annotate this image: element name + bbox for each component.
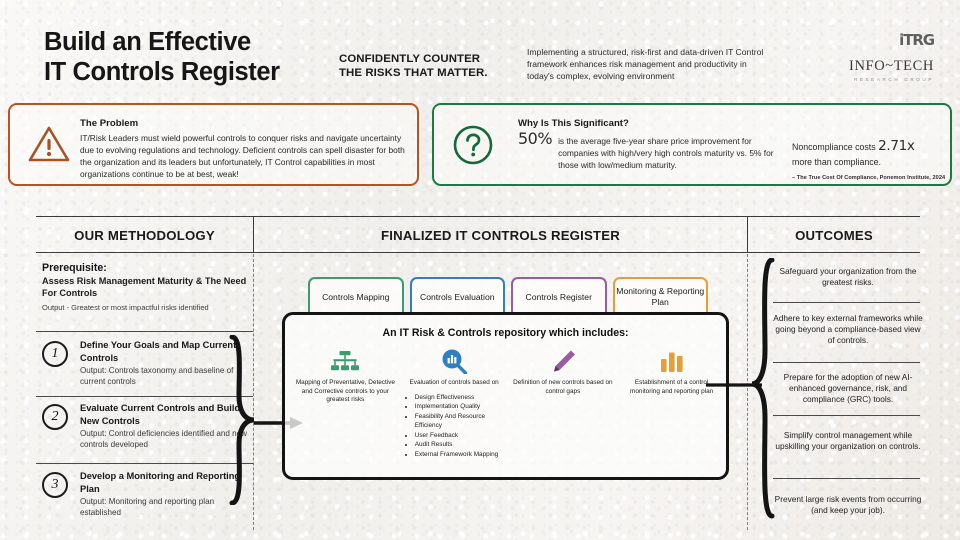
section-heading-outcomes: OUTCOMES bbox=[748, 228, 920, 243]
outcome-separator bbox=[773, 478, 920, 479]
problem-callout: The Problem IT/Risk Leaders must wield p… bbox=[8, 103, 419, 186]
significance-stat: 50% is the average five-year share price… bbox=[518, 131, 793, 171]
step-number-badge: 3 bbox=[42, 472, 68, 498]
step-number-badge: 2 bbox=[42, 404, 68, 430]
methodology-separator bbox=[36, 331, 253, 332]
list-item: External Framework Mapping bbox=[415, 450, 506, 459]
page-title-line2: IT Controls Register bbox=[44, 57, 280, 87]
list-item: Implementation Quality bbox=[415, 402, 506, 411]
header-description: Implementing a structured, risk-first an… bbox=[527, 46, 767, 83]
infographic-page: Build an Effective IT Controls Register … bbox=[0, 0, 960, 540]
section-heading-methodology: OUR METHODOLOGY bbox=[36, 228, 253, 243]
register-tabs: Controls Mapping Controls Evaluation Con… bbox=[308, 277, 708, 315]
register-column-caption: Mapping of Preventative, Detective and C… bbox=[294, 379, 397, 405]
logo-itrg-mark: iTRG bbox=[849, 31, 934, 49]
step-number-badge: 1 bbox=[42, 341, 68, 367]
tab-controls-mapping[interactable]: Controls Mapping bbox=[308, 277, 404, 315]
cost-prefix: Noncompliance costs bbox=[792, 142, 876, 152]
pencil-icon bbox=[512, 348, 615, 374]
outcome-separator bbox=[773, 362, 920, 363]
register-column-mapping: Mapping of Preventative, Detective and C… bbox=[291, 348, 400, 459]
methodology-step-3[interactable]: 3 Develop a Monitoring and Reporting Pla… bbox=[42, 470, 257, 519]
significance-callout: Why Is This Significant? 50% is the aver… bbox=[432, 103, 952, 186]
outcome-item-4: Simplify control management while upskil… bbox=[773, 430, 923, 452]
page-title: Build an Effective IT Controls Register bbox=[44, 27, 280, 87]
problem-body: IT/Risk Leaders must wield powerful cont… bbox=[80, 132, 410, 180]
methodology-step-2[interactable]: 2 Evaluate Current Controls and Build Ne… bbox=[42, 402, 257, 451]
list-item: Feasibility And Resource Efficiency bbox=[415, 412, 506, 430]
prerequisite-block: Prerequisite: Assess Risk Management Mat… bbox=[42, 262, 256, 312]
left-brace-icon bbox=[226, 335, 256, 505]
methodology-separator bbox=[36, 396, 253, 397]
header-kicker: CONFIDENTLY COUNTER THE RISKS THAT MATTE… bbox=[339, 52, 488, 81]
logo-tagline: RESEARCH GROUP bbox=[849, 77, 934, 82]
methodology-step-1[interactable]: 1 Define Your Goals and Map Current Cont… bbox=[42, 339, 257, 388]
hierarchy-icon bbox=[294, 348, 397, 374]
prerequisite-label: Prerequisite: bbox=[42, 262, 256, 274]
logo-info-tech-name: INFO~TECH bbox=[849, 58, 934, 75]
prerequisite-title: Assess Risk Management Maturity & The Ne… bbox=[42, 275, 256, 299]
outcome-item-2: Adhere to key external frameworks while … bbox=[773, 313, 923, 347]
warning-triangle-icon bbox=[26, 122, 72, 168]
register-content-panel: An IT Risk & Controls repository which i… bbox=[282, 312, 729, 480]
band-rule-bottom bbox=[36, 252, 920, 253]
methodology-separator bbox=[36, 463, 253, 464]
list-item: Audit Results bbox=[415, 440, 506, 449]
header-kicker-line1: CONFIDENTLY COUNTER bbox=[339, 52, 488, 66]
register-column-caption: Definition of new controls based on cont… bbox=[512, 379, 615, 396]
header-kicker-line2: THE RISKS THAT MATTER. bbox=[339, 66, 488, 80]
register-columns: Mapping of Preventative, Detective and C… bbox=[291, 348, 726, 459]
tab-monitoring-reporting-plan[interactable]: Monitoring & Reporting Plan bbox=[613, 277, 709, 315]
stat-value: 50% bbox=[518, 131, 552, 147]
significance-heading: Why Is This Significant? bbox=[518, 118, 629, 129]
evaluation-criteria-list: Design Effectiveness Implementation Qual… bbox=[403, 393, 506, 459]
section-heading-register: FINALIZED IT CONTROLS REGISTER bbox=[254, 228, 747, 243]
stat-description: is the average five-year share price imp… bbox=[558, 131, 793, 171]
magnifier-chart-icon bbox=[403, 348, 506, 374]
problem-heading: The Problem bbox=[80, 118, 138, 129]
tab-controls-evaluation[interactable]: Controls Evaluation bbox=[410, 277, 506, 315]
outcome-separator bbox=[773, 302, 920, 303]
outcome-separator bbox=[773, 415, 920, 416]
band-rule-top bbox=[36, 216, 920, 217]
prerequisite-output: Output - Greatest or most impactful risk… bbox=[42, 303, 256, 312]
cost-suffix: more than compliance. bbox=[792, 156, 952, 168]
list-item: Design Effectiveness bbox=[415, 393, 506, 402]
register-column-evaluation: Evaluation of controls based on Design E… bbox=[400, 348, 509, 459]
cost-value: 2.71x bbox=[878, 138, 915, 154]
outcome-item-1: Safeguard your organization from the gre… bbox=[773, 266, 923, 288]
register-column-definition: Definition of new controls based on cont… bbox=[509, 348, 618, 459]
brand-logo: iTRG INFO~TECH RESEARCH GROUP bbox=[849, 31, 934, 82]
cost-statement: Noncompliance costs 2.71x bbox=[792, 137, 952, 156]
page-title-line1: Build an Effective bbox=[44, 27, 280, 57]
tab-controls-register[interactable]: Controls Register bbox=[511, 277, 607, 315]
register-panel-title: An IT Risk & Controls repository which i… bbox=[285, 327, 726, 339]
source-citation: – The True Cost Of Compliance, Ponemon I… bbox=[792, 175, 952, 181]
question-mark-icon bbox=[450, 122, 496, 168]
outcome-item-5: Prevent large risk events from occurring… bbox=[773, 494, 923, 516]
register-column-monitoring: Establishment of a control monitoring an… bbox=[617, 348, 726, 459]
outcome-item-3: Prepare for the adoption of new AI-enhan… bbox=[773, 372, 923, 406]
bar-chart-icon bbox=[620, 348, 723, 374]
noncompliance-cost-block: Noncompliance costs 2.71x more than comp… bbox=[792, 137, 952, 181]
register-column-caption: Evaluation of controls based on bbox=[403, 379, 506, 388]
list-item: User Feedback bbox=[415, 431, 506, 440]
